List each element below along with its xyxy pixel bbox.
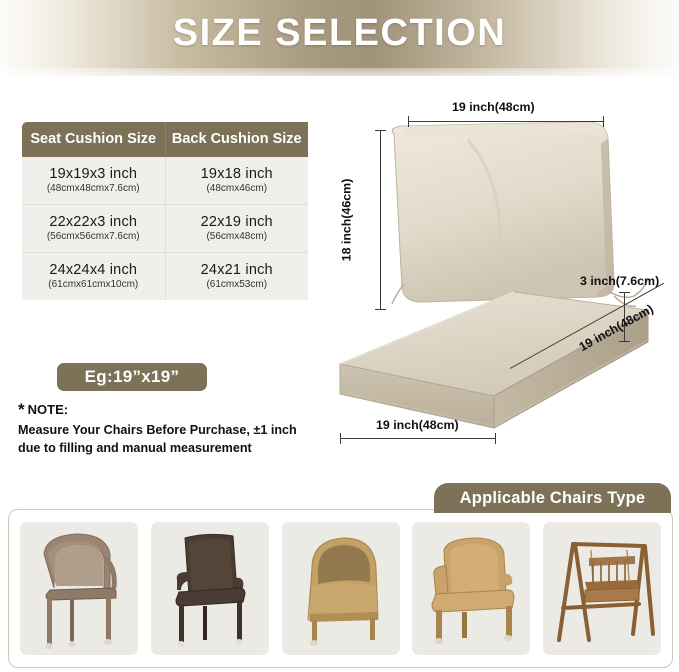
cell-seat-size: 24x24x4 inch (61cmx61cmx10cm) bbox=[22, 253, 165, 301]
dim-tick-top bbox=[375, 130, 386, 131]
round-back-wicker-stacking-chair-icon bbox=[20, 522, 138, 655]
chair-card-natural-rattan-dining-armchair[interactable] bbox=[412, 522, 530, 655]
dim-tick-left bbox=[408, 116, 409, 127]
note-block: *NOTE: Measure Your Chairs Before Purcha… bbox=[18, 400, 298, 458]
applicable-chairs-container bbox=[8, 509, 673, 668]
cell-back-size: 19x18 inch (48cmx46cm) bbox=[165, 157, 308, 205]
table-row: 19x19x3 inch (48cmx48cmx7.6cm) 19x18 inc… bbox=[22, 157, 308, 205]
seat-size-cm: (48cmx48cmx7.6cm) bbox=[26, 183, 161, 194]
cell-back-size: 24x21 inch (61cmx53cm) bbox=[165, 253, 308, 301]
chair-card-round-back-wicker-stacking-chair[interactable] bbox=[20, 522, 138, 655]
dim-tick-seat-right bbox=[495, 433, 496, 444]
dark-brown-high-back-rattan-chair-icon bbox=[151, 522, 269, 655]
example-size-badge: Eg:19”x19” bbox=[57, 363, 207, 391]
seat-size-inch: 22x22x3 inch bbox=[26, 214, 161, 230]
dim-label-seat-width: 19 inch(48cm) bbox=[376, 418, 459, 432]
cell-seat-size: 22x22x3 inch (56cmx56cmx7.6cm) bbox=[22, 205, 165, 253]
size-table: Seat Cushion Size Back Cushion Size 19x1… bbox=[22, 122, 308, 300]
table-header-row: Seat Cushion Size Back Cushion Size bbox=[22, 122, 308, 157]
dim-line-seat-width bbox=[340, 438, 496, 439]
seat-size-inch: 19x19x3 inch bbox=[26, 166, 161, 182]
seat-size-inch: 24x24x4 inch bbox=[26, 262, 161, 278]
table-row: 24x24x4 inch (61cmx61cmx10cm) 24x21 inch… bbox=[22, 253, 308, 301]
dim-line-back-height bbox=[380, 130, 381, 310]
dim-tick-thickness-bottom bbox=[619, 341, 630, 342]
chairs-row bbox=[9, 510, 672, 667]
dim-tick-seat-left bbox=[340, 433, 341, 444]
back-size-inch: 24x21 inch bbox=[170, 262, 305, 278]
cushion-dimension-diagram: 19 inch(48cm) 18 inch(46cm) 3 inch(7.6cm… bbox=[318, 96, 679, 456]
chair-card-wooden-porch-swing-bench[interactable] bbox=[543, 522, 661, 655]
dim-label-seat-thickness: 3 inch(7.6cm) bbox=[580, 274, 659, 288]
dim-tick-thickness-top bbox=[619, 292, 630, 293]
seat-size-cm: (56cmx56cmx7.6cm) bbox=[26, 231, 161, 242]
back-size-cm: (48cmx46cm) bbox=[170, 183, 305, 194]
note-heading: *NOTE: bbox=[18, 400, 298, 420]
chair-card-dark-brown-high-back-rattan-chair[interactable] bbox=[151, 522, 269, 655]
seat-cushion-shape bbox=[340, 292, 648, 428]
cell-back-size: 22x19 inch (56cmx48cm) bbox=[165, 205, 308, 253]
dim-tick-bottom bbox=[375, 309, 386, 310]
asterisk-icon: * bbox=[18, 400, 25, 419]
back-size-inch: 19x18 inch bbox=[170, 166, 305, 182]
note-text: Measure Your Chairs Before Purchase, ±1 … bbox=[18, 422, 298, 458]
page-title: SIZE SELECTION bbox=[0, 12, 679, 55]
seat-size-cm: (61cmx61cmx10cm) bbox=[26, 279, 161, 290]
column-header-seat-cushion: Seat Cushion Size bbox=[22, 122, 165, 157]
wooden-porch-swing-bench-icon bbox=[543, 522, 661, 655]
tan-barrel-wicker-armchair-icon bbox=[282, 522, 400, 655]
back-size-cm: (61cmx53cm) bbox=[170, 279, 305, 290]
page-header-banner: SIZE SELECTION bbox=[0, 0, 679, 76]
dim-line-back-width bbox=[408, 121, 604, 122]
cell-seat-size: 19x19x3 inch (48cmx48cmx7.6cm) bbox=[22, 157, 165, 205]
table-row: 22x22x3 inch (56cmx56cmx7.6cm) 22x19 inc… bbox=[22, 205, 308, 253]
banner-fade bbox=[0, 68, 679, 82]
natural-rattan-dining-armchair-icon bbox=[412, 522, 530, 655]
dim-tick-right bbox=[603, 116, 604, 127]
dim-label-back-height: 18 inch(46cm) bbox=[339, 179, 353, 262]
chair-card-tan-barrel-wicker-armchair[interactable] bbox=[282, 522, 400, 655]
back-size-inch: 22x19 inch bbox=[170, 214, 305, 230]
note-heading-text: NOTE: bbox=[28, 402, 68, 417]
applicable-chairs-tab: Applicable Chairs Type bbox=[434, 483, 671, 513]
dim-label-back-width: 19 inch(48cm) bbox=[452, 100, 535, 114]
back-size-cm: (56cmx48cm) bbox=[170, 231, 305, 242]
column-header-back-cushion: Back Cushion Size bbox=[165, 122, 308, 157]
